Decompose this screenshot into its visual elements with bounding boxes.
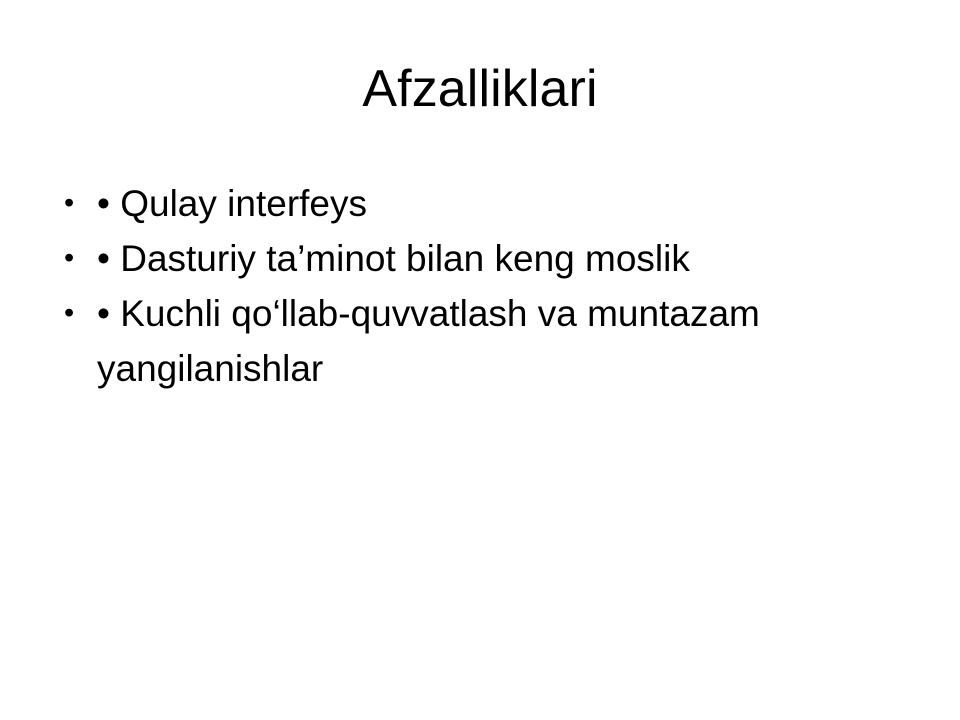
list-item-text: • Kuchli qo‘llab-quvvatlash va muntazam … [97,293,760,389]
list-item[interactable]: • • Dasturiy ta’minot bilan keng moslik [60,231,860,286]
list-item[interactable]: • • Qulay interfeys [60,176,860,231]
slide-title: Afzalliklari [0,58,960,120]
bullet-list: • • Qulay interfeys • • Dasturiy ta’mino… [60,176,860,396]
presentation-slide: Afzalliklari • • Qulay interfeys • • Das… [0,0,960,720]
bullet-point-icon: • [64,176,84,231]
bullet-point-icon: • [64,231,84,286]
list-item[interactable]: • • Kuchli qo‘llab-quvvatlash va muntaza… [60,286,860,396]
list-item-text: • Qulay interfeys [97,183,367,224]
bullet-point-icon: • [64,286,84,341]
list-item-text: • Dasturiy ta’minot bilan keng moslik [97,238,690,279]
